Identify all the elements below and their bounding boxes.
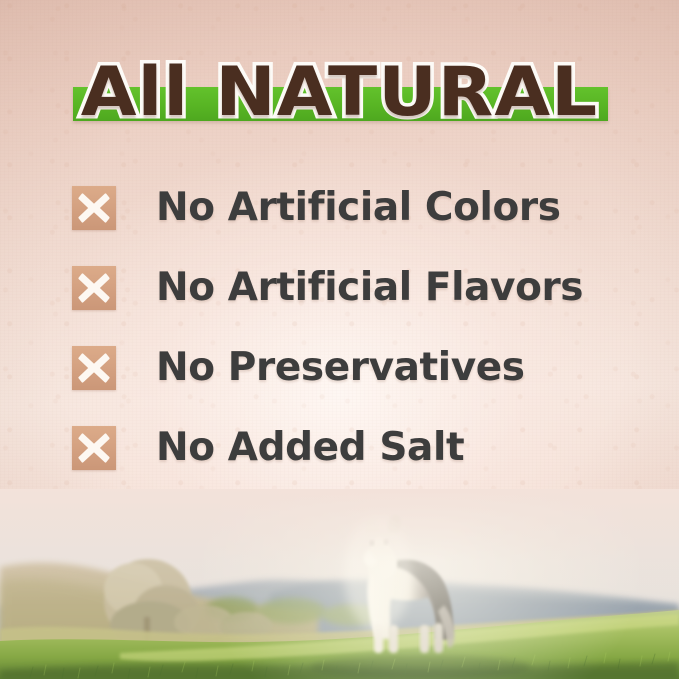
claim-label: No Artificial Flavors — [156, 266, 583, 310]
x-mark-icon — [72, 346, 116, 390]
all-natural-poster: All NATURAL No Artificial Colors No Arti… — [0, 0, 679, 679]
claim-label: No Artificial Colors — [156, 186, 561, 230]
headline-banner: All NATURAL — [0, 50, 679, 136]
claim-row: No Preservatives — [0, 328, 679, 408]
x-mark-icon — [72, 186, 116, 230]
claims-list: No Artificial Colors No Artificial Flavo… — [0, 168, 679, 488]
claim-row: No Added Salt — [0, 408, 679, 488]
claim-label: No Added Salt — [156, 426, 464, 470]
claim-row: No Artificial Flavors — [0, 248, 679, 328]
x-mark-icon — [72, 426, 116, 470]
headline-text: All NATURAL — [0, 50, 679, 136]
claim-label: No Preservatives — [156, 346, 525, 390]
claim-row: No Artificial Colors — [0, 168, 679, 248]
x-mark-icon — [72, 266, 116, 310]
dog-landscape-photo — [0, 489, 679, 679]
